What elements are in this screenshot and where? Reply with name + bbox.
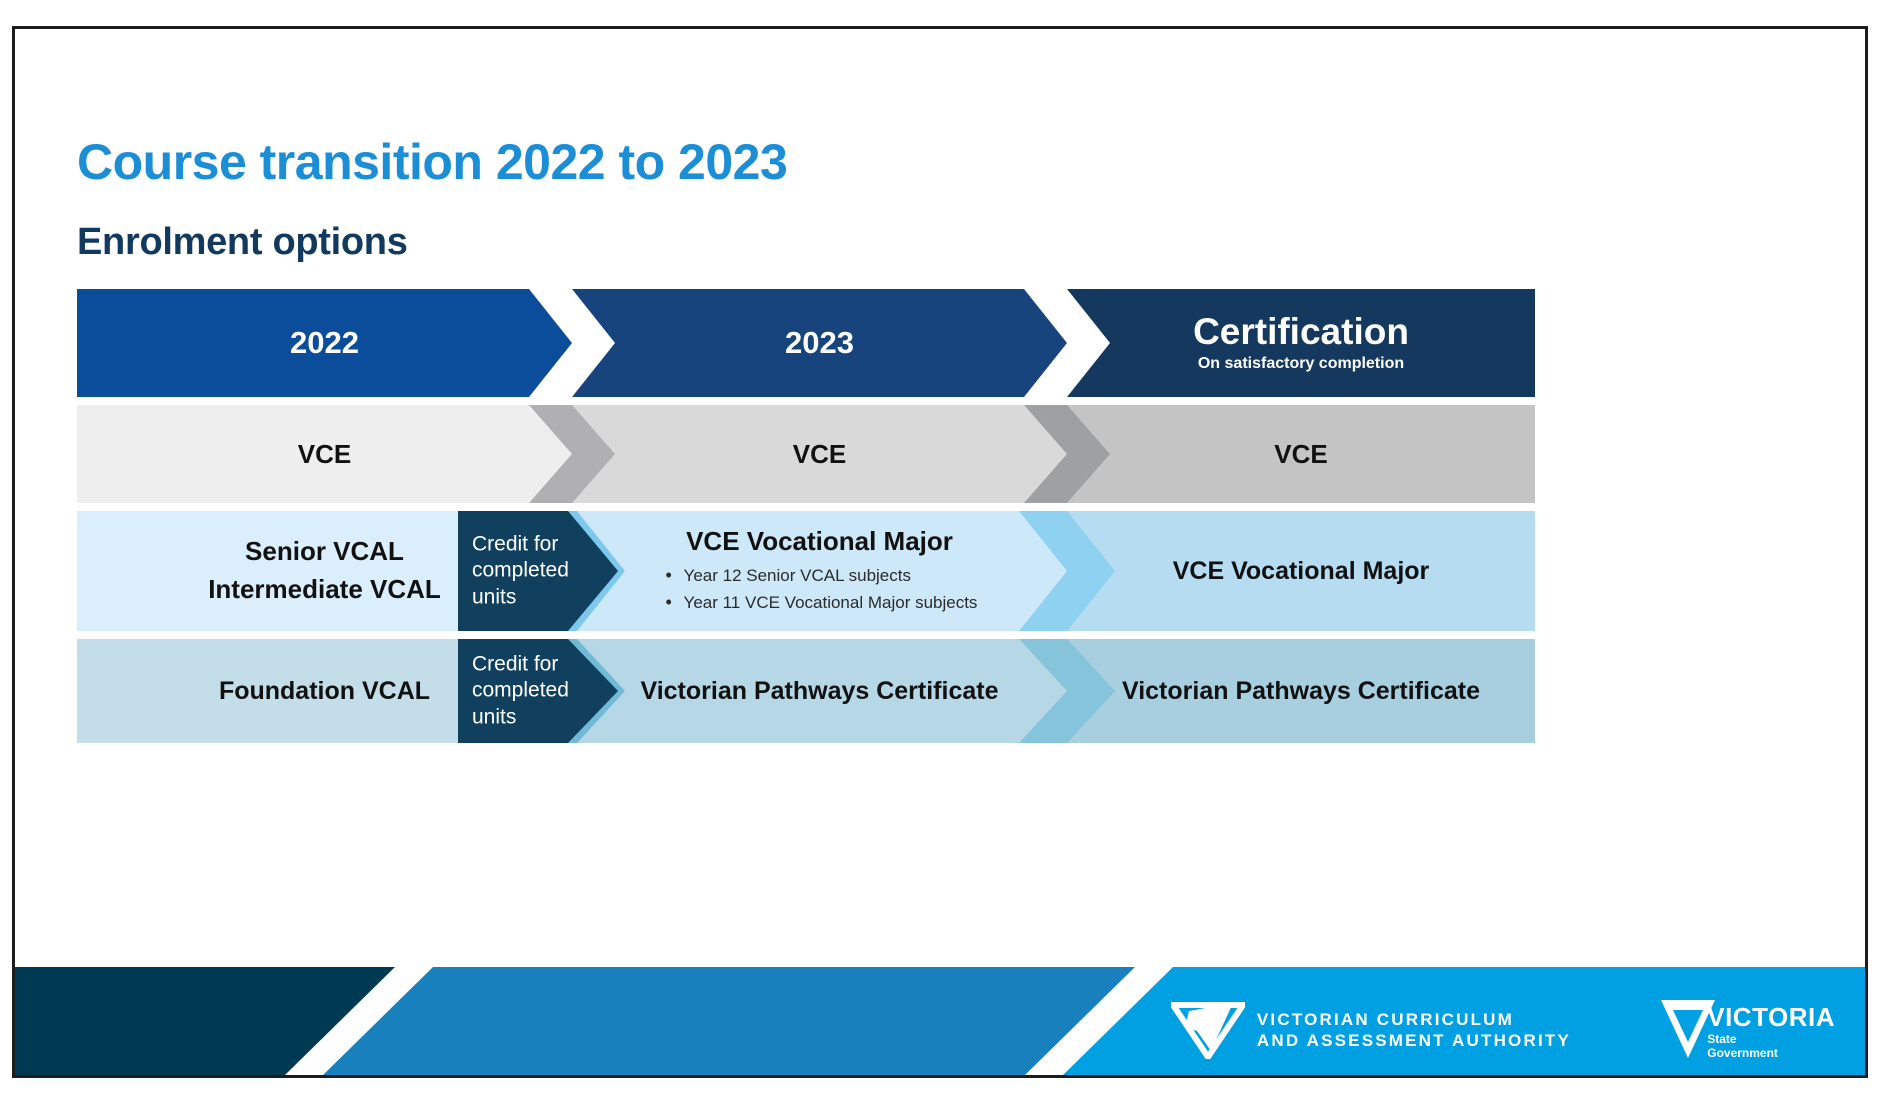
header-cell-2023: 2023	[572, 289, 1067, 397]
credit-badge-label: Credit for completed units	[472, 652, 576, 731]
cell-vce-2023: VCE	[572, 405, 1067, 503]
label-vce-vocational-major-certification: VCE Vocational Major	[1173, 557, 1430, 586]
victoria-wordmark: VICTORIA	[1707, 1002, 1835, 1033]
label-vpc-2023: Victorian Pathways Certificate	[640, 677, 998, 706]
label-foundation-vcal: Foundation VCAL	[219, 677, 430, 706]
label-vce-vocational-major-2023: VCE Vocational Major	[686, 526, 953, 557]
vcaa-checkmark-icon	[1171, 1001, 1245, 1059]
chevron-right-icon	[529, 405, 615, 503]
cell-vpc-certification: Victorian Pathways Certificate	[1067, 639, 1535, 743]
label-senior-vcal: Senior VCAL	[208, 533, 441, 571]
header-sublabel-certification: On satisfactory completion	[1198, 355, 1404, 373]
diagram-row-victorian-pathways-certificate: Foundation VCAL Victorian Pathways Certi…	[77, 639, 1535, 743]
chevron-right-icon	[1019, 639, 1115, 743]
header-cell-2022: 2022	[77, 289, 572, 397]
list-item: Year 11 VCE Vocational Major subjects	[662, 590, 978, 616]
vcaa-logo: VICTORIAN CURRICULUM AND ASSESSMENT AUTH…	[1171, 1001, 1571, 1059]
list-item: Year 12 Senior VCAL subjects	[662, 563, 978, 589]
credit-badge-vpc: Credit for completed units	[458, 639, 618, 743]
header-label-2022: 2022	[290, 325, 359, 361]
slide-canvas: Course transition 2022 to 2023 Enrolment…	[12, 26, 1868, 1078]
credit-badge-label: Credit for completed units	[472, 532, 576, 611]
vcaa-wordmark: VICTORIAN CURRICULUM AND ASSESSMENT AUTH…	[1257, 1009, 1571, 1052]
label-vce-2022: VCE	[298, 439, 351, 470]
victoria-sub-line-2: Government	[1707, 1047, 1835, 1061]
label-vpc-certification: Victorian Pathways Certificate	[1122, 677, 1480, 706]
cell-vcevm-certification: VCE Vocational Major	[1067, 511, 1535, 631]
bullet-list-vcevm: Year 12 Senior VCAL subjects Year 11 VCE…	[662, 563, 978, 616]
victoria-government-logo: VICTORIA State Government	[1659, 998, 1835, 1061]
chevron-right-icon	[1024, 405, 1110, 503]
cell-vpc-2023: Victorian Pathways Certificate	[572, 639, 1067, 743]
page-title: Course transition 2022 to 2023	[77, 133, 787, 191]
vcaa-line-1: VICTORIAN CURRICULUM	[1257, 1009, 1571, 1030]
page-subtitle: Enrolment options	[77, 221, 408, 264]
header-cell-certification: Certification On satisfactory completion	[1067, 289, 1535, 397]
label-intermediate-vcal: Intermediate VCAL	[208, 571, 441, 609]
cell-vcevm-2023: VCE Vocational Major Year 12 Senior VCAL…	[572, 511, 1067, 631]
label-vce-2023: VCE	[793, 439, 846, 470]
course-transition-diagram: 2022 2023 Certification On satisfactory …	[77, 289, 1535, 749]
chevron-right-icon	[1019, 511, 1115, 631]
diagram-row-vce-vocational-major: Senior VCAL Intermediate VCAL VCE Vocati…	[77, 511, 1535, 631]
slide-footer: VICTORIAN CURRICULUM AND ASSESSMENT AUTH…	[15, 967, 1868, 1075]
header-label-certification: Certification	[1193, 313, 1409, 352]
victoria-sub-line-1: State	[1707, 1033, 1835, 1047]
credit-badge-vcevm: Credit for completed units	[458, 511, 618, 631]
vcaa-line-2: AND ASSESSMENT AUTHORITY	[1257, 1030, 1571, 1051]
cell-vce-2022: VCE	[77, 405, 572, 503]
diagram-row-vce: VCE VCE VCE	[77, 405, 1535, 503]
header-label-2023: 2023	[785, 325, 854, 361]
label-vce-certification: VCE	[1274, 439, 1327, 470]
cell-vce-certification: VCE	[1067, 405, 1535, 503]
footer-decorative-bands	[15, 967, 1868, 1075]
diagram-header-row: 2022 2023 Certification On satisfactory …	[77, 289, 1535, 397]
